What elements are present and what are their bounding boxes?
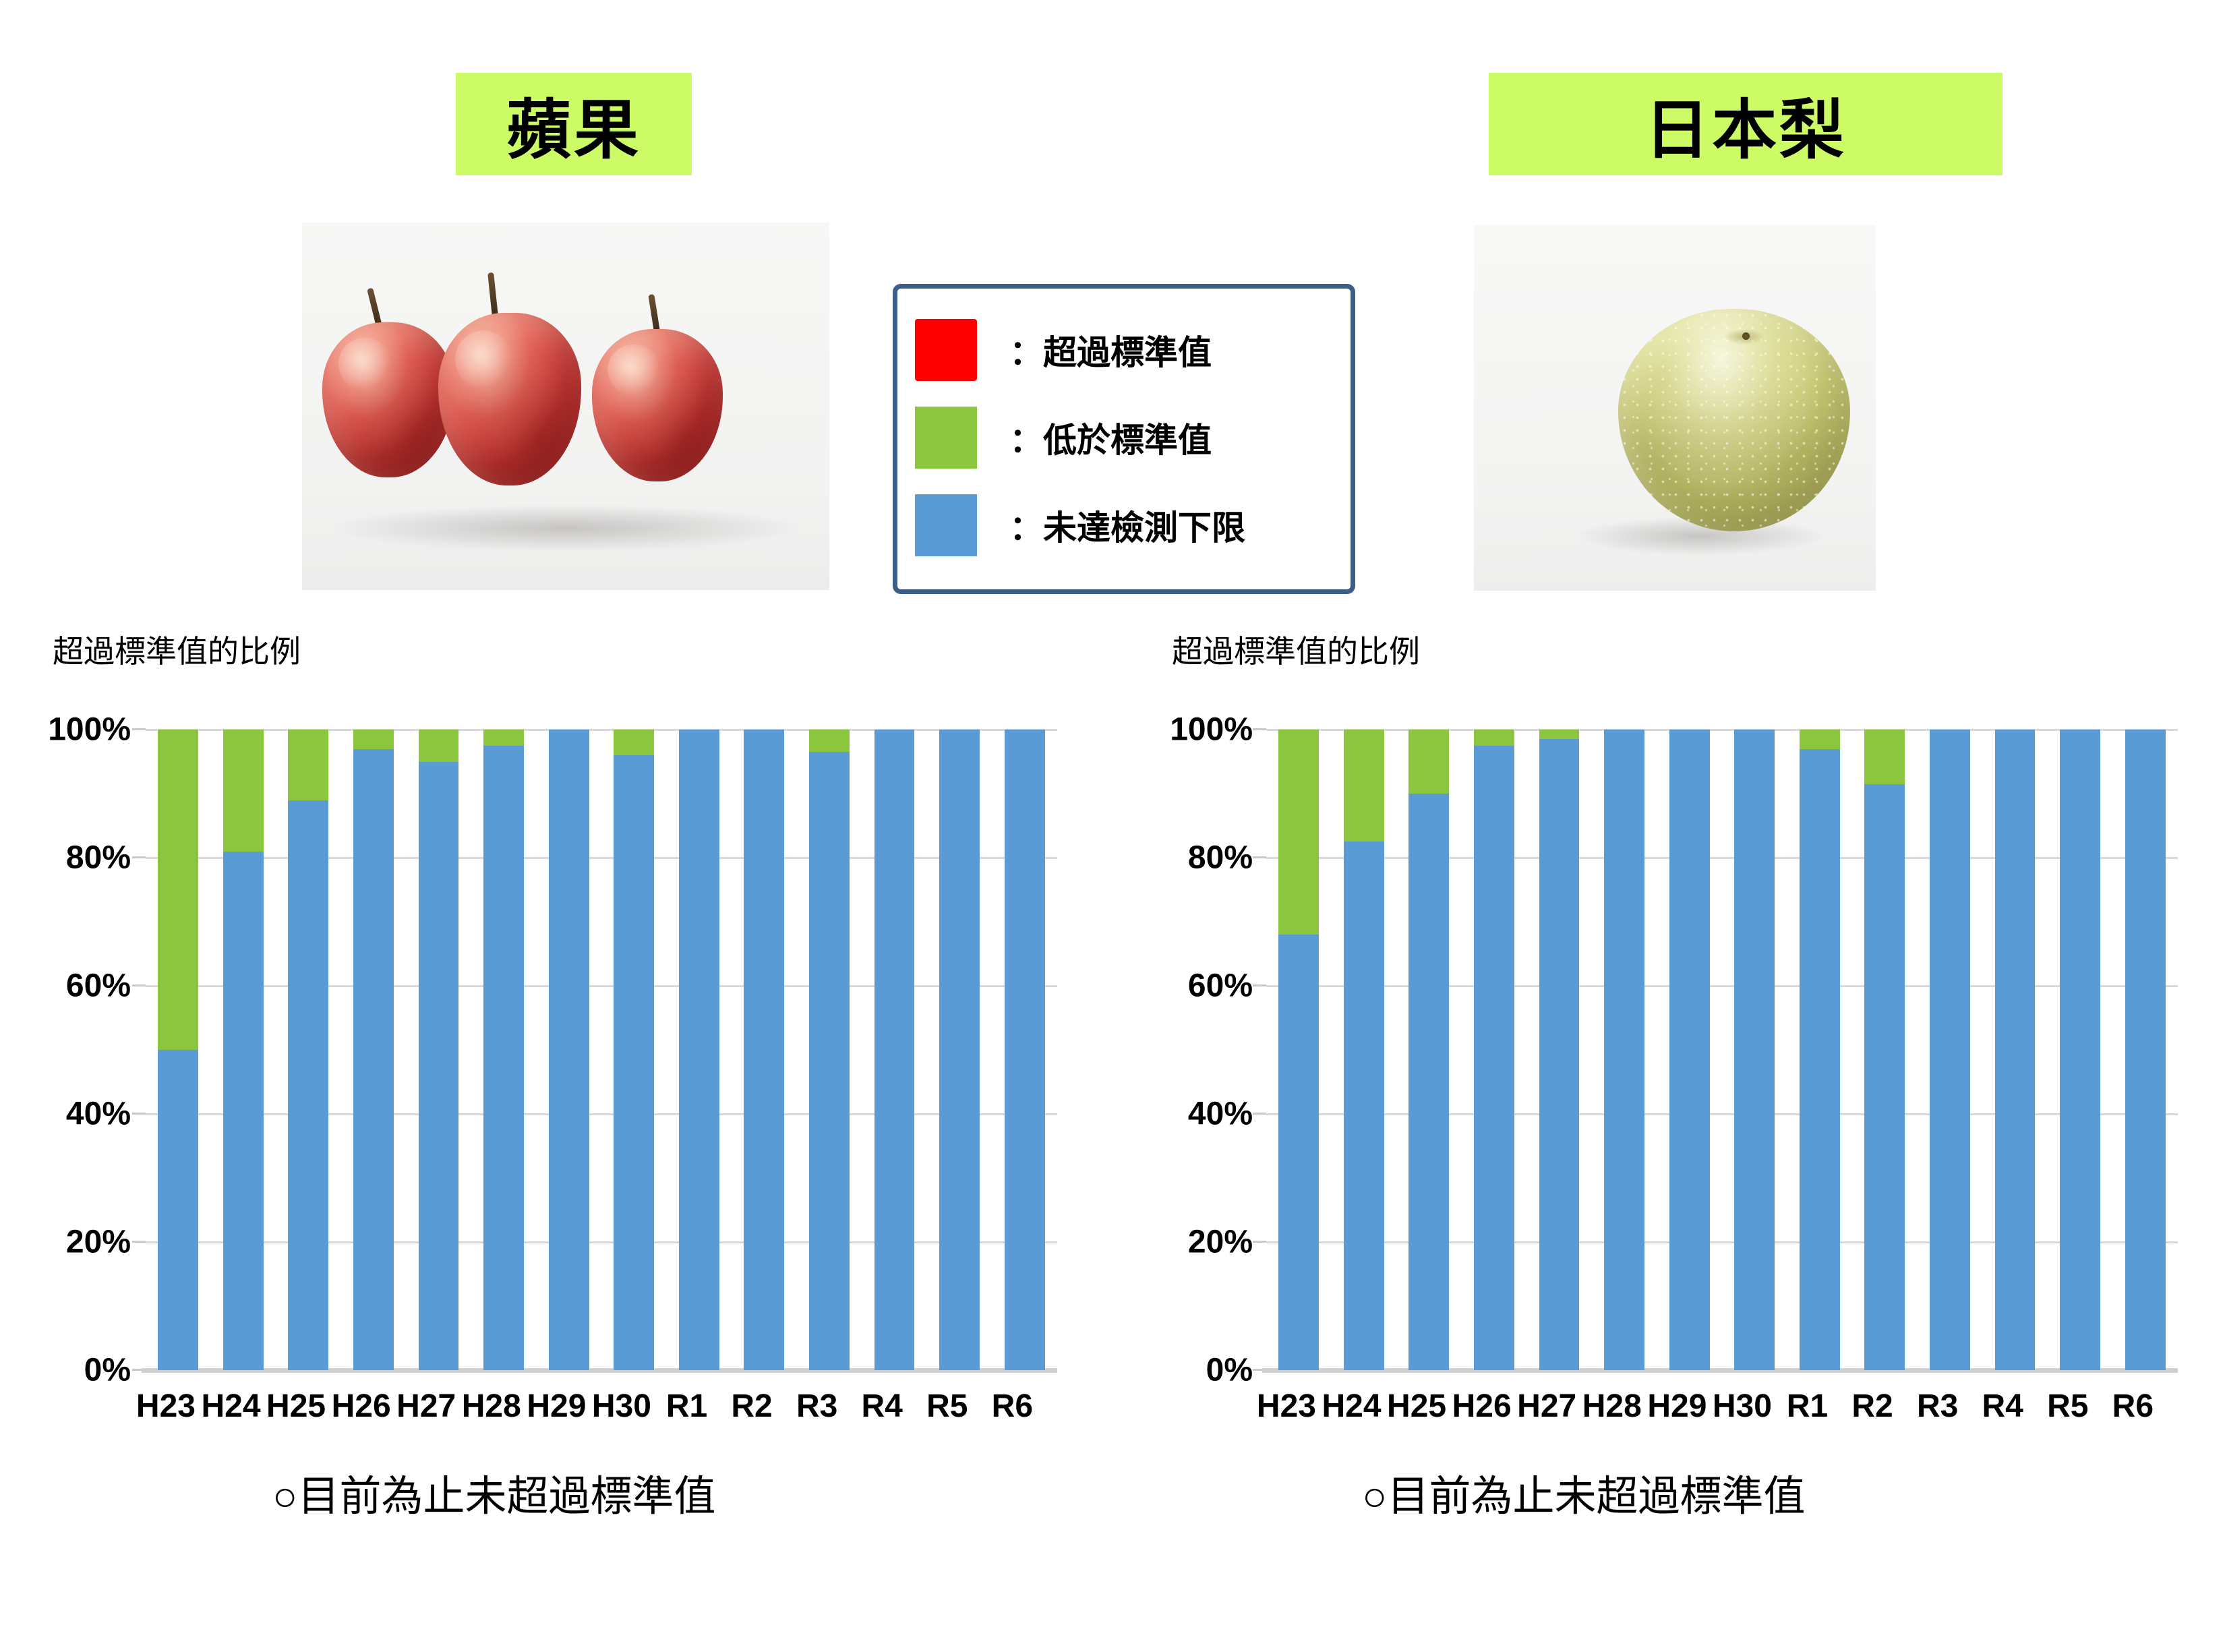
ytick-dash-80 <box>1253 856 1266 858</box>
bar-R3[interactable] <box>1930 730 1970 1370</box>
xtick-label-R3: R3 <box>784 1388 850 1425</box>
bar-segment-undetected-R4 <box>1995 730 2036 1370</box>
xtick-label-H29: H29 <box>1644 1388 1710 1425</box>
xtick-label-R5: R5 <box>2036 1388 2101 1425</box>
xtick-label-H29: H29 <box>524 1388 589 1425</box>
ytick-dash-100 <box>1253 728 1266 730</box>
chart-apple-plot: 0%20%40%60%80%100%H23H24H25H26H27H28H29H… <box>146 730 1057 1370</box>
ytick-dash-100 <box>132 728 146 730</box>
ytick-dash-40 <box>1253 1113 1266 1115</box>
bar-segment-undetected-H30 <box>614 755 654 1370</box>
bar-R4[interactable] <box>1995 730 2036 1370</box>
xtick-label-R4: R4 <box>1970 1388 2036 1425</box>
bar-H24[interactable] <box>1344 730 1384 1370</box>
xtick-label-R6: R6 <box>980 1388 1045 1425</box>
xtick-label-H30: H30 <box>1710 1388 1775 1425</box>
bar-H25[interactable] <box>1408 730 1449 1370</box>
xtick-label-H25: H25 <box>1384 1388 1450 1425</box>
bar-H23[interactable] <box>1278 730 1319 1370</box>
bar-H23[interactable] <box>158 730 198 1370</box>
xtick-label-H26: H26 <box>1449 1388 1514 1425</box>
gridline-60 <box>146 985 1057 987</box>
chart-pear-plot: 0%20%40%60%80%100%H23H24H25H26H27H28H29H… <box>1266 730 2178 1370</box>
chart-apple: 超過標準值的比例 0%20%40%60%80%100%H23H24H25H26H… <box>0 627 1106 1436</box>
legend-label-below: ：低於標準值 <box>1009 413 1212 462</box>
gridline-20 <box>1266 1241 2178 1243</box>
bar-segment-undetected-H28 <box>1604 730 1644 1370</box>
bar-segment-undetected-H29 <box>1669 730 1710 1370</box>
ytick-dash-80 <box>132 856 146 858</box>
bar-segment-below-H27 <box>1539 730 1580 739</box>
x-axis-line <box>1262 1368 2178 1373</box>
xtick-label-H24: H24 <box>1319 1388 1384 1425</box>
gridline-20 <box>146 1241 1057 1243</box>
chart-pear-axis-title: 超過標準值的比例 <box>1172 627 1420 672</box>
xtick-label-H26: H26 <box>328 1388 394 1425</box>
legend-swatch-red <box>915 319 977 381</box>
bar-R3[interactable] <box>809 730 850 1370</box>
gridline-80 <box>146 857 1057 859</box>
gridline-100 <box>1266 729 2178 731</box>
bar-segment-undetected-R3 <box>1930 730 1970 1370</box>
bar-H30[interactable] <box>1734 730 1775 1370</box>
bar-segment-undetected-R6 <box>2125 730 2166 1370</box>
bar-segment-undetected-H25 <box>288 800 328 1371</box>
bar-H25[interactable] <box>288 730 328 1370</box>
legend-box: ：超過標準值 ：低於標準值 ：未達檢測下限 <box>893 284 1355 594</box>
xtick-label-H27: H27 <box>394 1388 459 1425</box>
xtick-label-R1: R1 <box>654 1388 719 1425</box>
ytick-label-40%: 40% <box>66 1096 131 1133</box>
bar-segment-below-H27 <box>419 730 459 762</box>
bar-segment-below-H26 <box>1474 730 1514 746</box>
xtick-label-H30: H30 <box>589 1388 655 1425</box>
legend-swatch-blue <box>915 494 977 556</box>
xtick-label-R2: R2 <box>719 1388 785 1425</box>
panel-title-pear: 日本梨 <box>1489 73 2002 175</box>
pear-photo <box>1474 225 1876 591</box>
bar-R2[interactable] <box>1864 730 1905 1370</box>
gridline-80 <box>1266 857 2178 859</box>
xtick-label-R1: R1 <box>1775 1388 1840 1425</box>
ytick-label-40%: 40% <box>1188 1096 1253 1133</box>
ytick-label-0%: 0% <box>84 1352 131 1389</box>
apple-photo <box>302 223 829 590</box>
ytick-dash-40 <box>132 1113 146 1115</box>
xtick-label-H23: H23 <box>1254 1388 1319 1425</box>
bar-segment-undetected-H26 <box>353 749 394 1371</box>
bar-H28[interactable] <box>483 730 524 1370</box>
panel-title-apple: 蘋果 <box>456 73 692 175</box>
ytick-dash-60 <box>132 984 146 986</box>
bar-R6[interactable] <box>2125 730 2166 1370</box>
gridline-40 <box>1266 1113 2178 1115</box>
bar-segment-below-H24 <box>223 730 264 852</box>
bar-segment-undetected-R4 <box>874 730 915 1370</box>
gridline-100 <box>146 729 1057 731</box>
bar-segment-undetected-R3 <box>809 752 850 1370</box>
legend-item-undetected: ：未達檢測下限 <box>915 481 1351 569</box>
bar-H29[interactable] <box>549 730 589 1370</box>
bar-segment-undetected-R5 <box>2060 730 2100 1370</box>
bar-H29[interactable] <box>1669 730 1710 1370</box>
bar-segment-undetected-R5 <box>939 730 980 1370</box>
bar-segment-undetected-H30 <box>1734 730 1775 1370</box>
chart-pear: 超過標準值的比例 0%20%40%60%80%100%H23H24H25H26H… <box>1146 627 2225 1436</box>
bar-segment-below-R3 <box>809 730 850 752</box>
xtick-label-H25: H25 <box>264 1388 329 1425</box>
bar-segment-undetected-H27 <box>1539 739 1580 1370</box>
xtick-label-R3: R3 <box>1905 1388 1970 1425</box>
bar-segment-undetected-H26 <box>1474 746 1514 1370</box>
bar-segment-below-H28 <box>483 730 524 746</box>
legend-label-exceeds: ：超過標準值 <box>1009 326 1212 374</box>
bar-R5[interactable] <box>939 730 980 1370</box>
bar-segment-undetected-H24 <box>1344 842 1384 1370</box>
bar-R6[interactable] <box>1005 730 1045 1370</box>
ytick-dash-60 <box>1253 984 1266 986</box>
bar-segment-undetected-H29 <box>549 730 589 1370</box>
chart-apple-axis-title: 超過標準值的比例 <box>53 627 301 672</box>
xtick-label-R5: R5 <box>915 1388 980 1425</box>
ytick-label-0%: 0% <box>1206 1352 1253 1389</box>
caption-pear: ○目前為止未超過標準值 <box>1362 1462 1805 1523</box>
bar-H26[interactable] <box>353 730 394 1370</box>
xtick-label-H27: H27 <box>1514 1388 1580 1425</box>
bar-H27[interactable] <box>1539 730 1580 1370</box>
bar-R1[interactable] <box>1800 730 1840 1370</box>
bar-segment-undetected-H25 <box>1408 794 1449 1370</box>
xtick-label-H24: H24 <box>198 1388 264 1425</box>
bar-segment-below-H24 <box>1344 730 1384 842</box>
ytick-label-20%: 20% <box>1188 1224 1253 1261</box>
bar-H26[interactable] <box>1474 730 1514 1370</box>
bar-segment-below-R1 <box>1800 730 1840 749</box>
legend-item-below: ：低於標準值 <box>915 394 1351 481</box>
bar-H24[interactable] <box>223 730 264 1370</box>
ytick-dash-20 <box>1253 1241 1266 1243</box>
bar-segment-undetected-R1 <box>679 730 719 1370</box>
bar-segment-below-H23 <box>158 730 198 1050</box>
bar-segment-undetected-R1 <box>1800 749 1840 1371</box>
ytick-label-60%: 60% <box>1188 968 1253 1005</box>
xtick-label-R2: R2 <box>1840 1388 1905 1425</box>
bar-segment-undetected-H27 <box>419 762 459 1371</box>
bar-R1[interactable] <box>679 730 719 1370</box>
caption-apple: ○目前為止未超過標準值 <box>272 1462 715 1523</box>
ytick-label-60%: 60% <box>66 968 131 1005</box>
ytick-label-80%: 80% <box>1188 839 1253 877</box>
bar-segment-below-H25 <box>288 730 328 800</box>
gridline-60 <box>1266 985 2178 987</box>
bar-segment-undetected-H24 <box>223 852 264 1371</box>
xtick-label-R6: R6 <box>2100 1388 2166 1425</box>
xtick-label-H23: H23 <box>133 1388 199 1425</box>
bar-segment-undetected-R2 <box>744 730 784 1370</box>
bar-segment-below-H26 <box>353 730 394 749</box>
bar-R2[interactable] <box>744 730 784 1370</box>
bar-H28[interactable] <box>1604 730 1644 1370</box>
ytick-label-20%: 20% <box>66 1224 131 1261</box>
bar-R4[interactable] <box>874 730 915 1370</box>
ytick-label-100%: 100% <box>1170 711 1253 748</box>
bar-segment-undetected-H28 <box>483 746 524 1370</box>
legend-swatch-green <box>915 407 977 469</box>
x-axis-line <box>142 1368 1057 1373</box>
xtick-label-H28: H28 <box>459 1388 525 1425</box>
bar-H30[interactable] <box>614 730 654 1370</box>
bar-H27[interactable] <box>419 730 459 1370</box>
bar-R5[interactable] <box>2060 730 2100 1370</box>
bar-segment-undetected-R6 <box>1005 730 1045 1370</box>
ytick-label-100%: 100% <box>48 711 131 748</box>
bar-segment-below-H25 <box>1408 730 1449 794</box>
bar-segment-undetected-H23 <box>158 1050 198 1370</box>
legend-label-undetected: ：未達檢測下限 <box>1009 501 1245 550</box>
xtick-label-H28: H28 <box>1580 1388 1645 1425</box>
gridline-40 <box>146 1113 1057 1115</box>
bar-segment-undetected-R2 <box>1864 784 1905 1370</box>
bar-segment-below-H30 <box>614 730 654 755</box>
bar-segment-undetected-H23 <box>1278 935 1319 1370</box>
ytick-label-80%: 80% <box>66 839 131 877</box>
bar-segment-below-H23 <box>1278 730 1319 935</box>
bar-segment-below-R2 <box>1864 730 1905 784</box>
xtick-label-R4: R4 <box>850 1388 915 1425</box>
legend-item-exceeds: ：超過標準值 <box>915 306 1351 394</box>
ytick-dash-20 <box>132 1241 146 1243</box>
